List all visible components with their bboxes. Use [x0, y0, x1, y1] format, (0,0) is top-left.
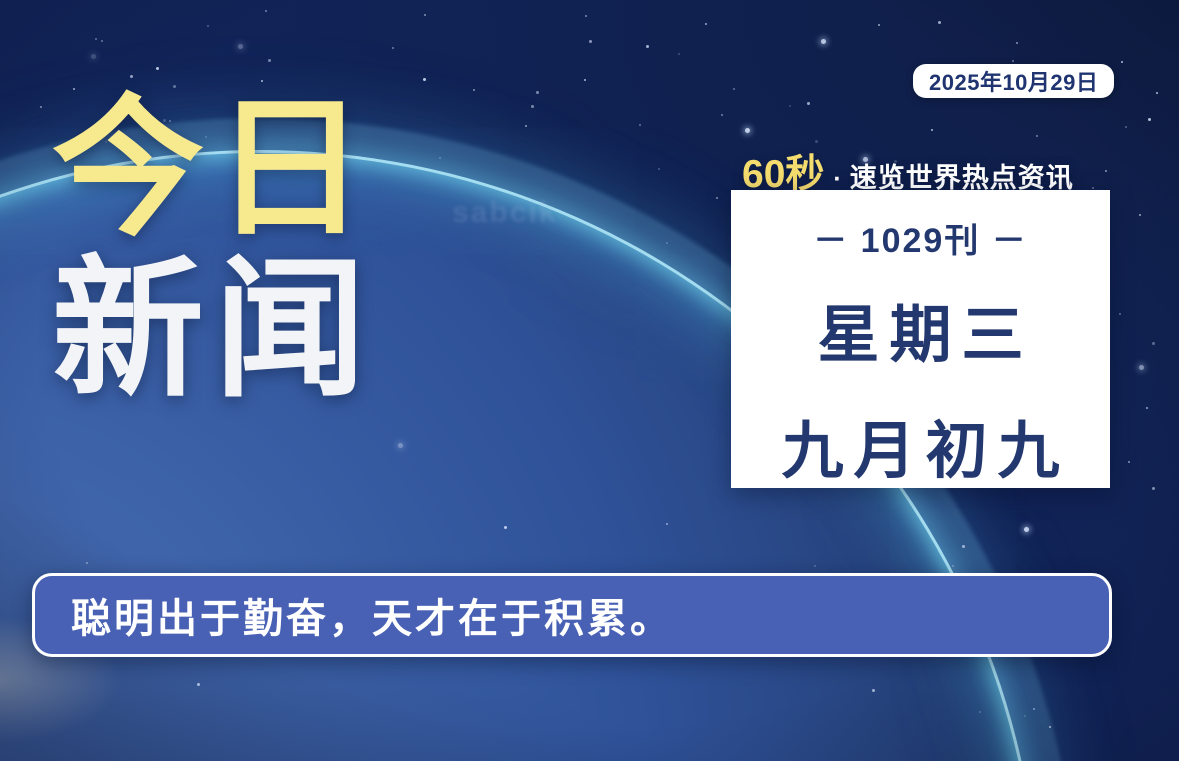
masthead-title: 今日 新闻 [52, 96, 376, 405]
info-card: － 1029刊 － 星期三 九月初九 [731, 190, 1110, 488]
issue-number: － 1029刊 － [813, 213, 1028, 262]
masthead-line-today: 今日 [52, 96, 376, 243]
masthead-line-news: 新闻 [52, 257, 376, 404]
news-card-canvas: sabcik 今日 新闻 2025年10月29日 60秒 · 速览世界热点资讯 … [0, 0, 1179, 761]
quote-text: 聪明出于勤奋，天才在于积累。 [71, 586, 673, 644]
weekday-label: 星期三 [807, 284, 1033, 374]
date-badge: 2025年10月29日 [913, 64, 1114, 98]
lunar-date-label: 九月初九 [771, 400, 1069, 490]
quote-bar: 聪明出于勤奋，天才在于积累。 [32, 573, 1112, 657]
